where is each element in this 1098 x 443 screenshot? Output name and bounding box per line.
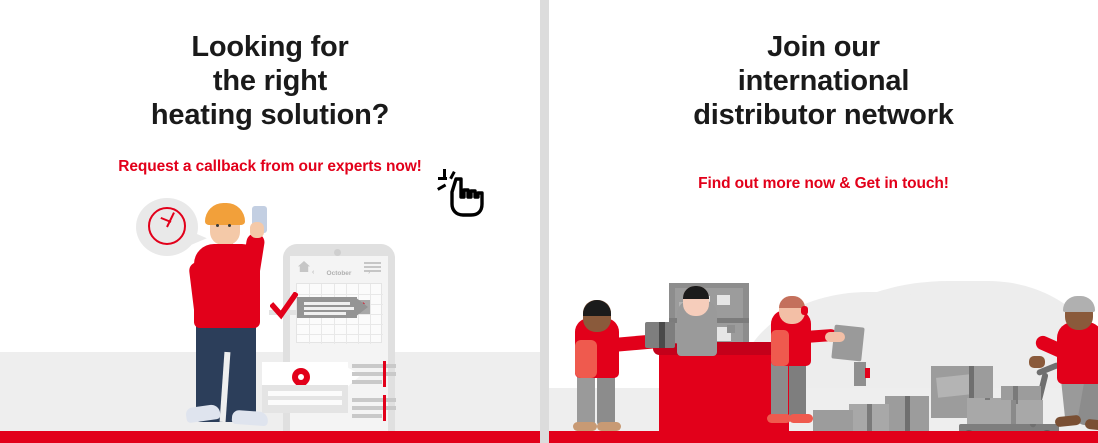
person-left-eye-right	[228, 224, 231, 227]
woman-a-leg-right	[597, 372, 615, 426]
check-mark-icon	[270, 292, 298, 320]
calendar-month-label: October	[290, 270, 388, 277]
woman-c-shoe-left	[767, 414, 791, 423]
warehouse-distribution-team-illustration	[549, 0, 1098, 443]
promo-banner-root: Looking for the right heating solution? …	[0, 0, 1098, 443]
person-left-raised-arm	[238, 232, 265, 296]
person-left-eye-left	[216, 224, 219, 227]
person-left-hair	[205, 203, 245, 225]
red-accent-bar-left	[0, 431, 540, 443]
person-left-shoe-right	[232, 410, 269, 426]
woman-c-shoe-right	[789, 414, 813, 423]
panel-divider	[540, 0, 549, 443]
panel-right-distributor-network[interactable]: Join our international distributor netwo…	[549, 0, 1098, 443]
woman-a-shoe-right	[597, 422, 621, 431]
woman-a-top-shade	[575, 340, 597, 378]
person-left-hand	[250, 222, 264, 238]
woman-c-leg-right	[789, 360, 806, 418]
reception-counter	[659, 344, 789, 438]
red-accent-bar-right	[549, 431, 1098, 443]
clipboard	[831, 325, 864, 362]
phone-camera-dot	[334, 249, 341, 256]
carton-large-label	[936, 374, 972, 397]
woman-a-shoe-left	[573, 422, 597, 431]
headset-icon	[801, 306, 808, 315]
location-card-lower	[262, 385, 348, 413]
man-with-phone-and-calendar-illustration: ‹ October ›	[0, 0, 540, 443]
panel-left-heating-solution[interactable]: Looking for the right heating solution? …	[0, 0, 540, 443]
man-hair	[1063, 296, 1095, 312]
map-pin-dot	[298, 374, 304, 380]
carton-d	[813, 410, 853, 432]
woman-c-hand	[825, 332, 845, 342]
chevron-right-icon: ›	[368, 269, 370, 276]
woman-c-leg-left	[771, 360, 788, 418]
woman-c-top-shade	[771, 330, 789, 366]
carton-label-red	[865, 368, 870, 378]
parcel-tape	[659, 322, 665, 348]
man-hand	[1029, 356, 1045, 368]
woman-a-leg-left	[577, 372, 595, 426]
woman-a-hair-top	[583, 300, 611, 316]
tag-arrow-point	[355, 297, 368, 317]
